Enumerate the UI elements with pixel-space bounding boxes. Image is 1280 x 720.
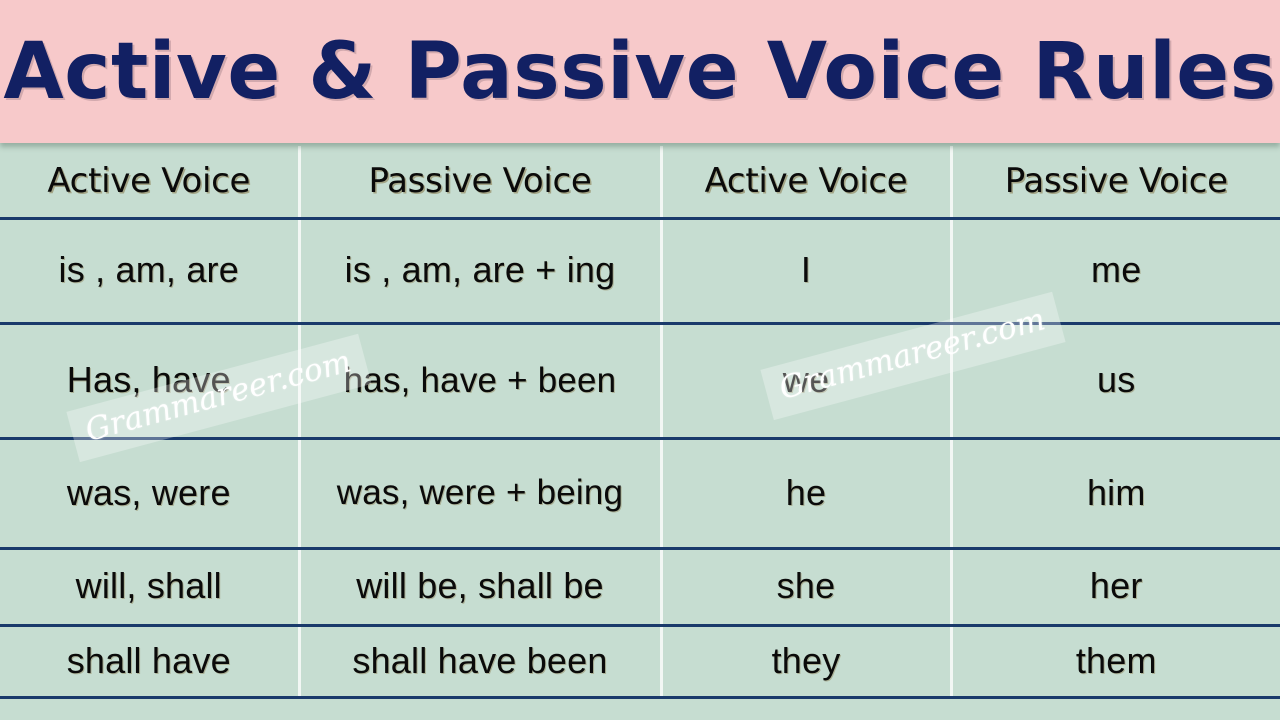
cell-passive-pronoun: me <box>951 218 1280 323</box>
cell-passive-pronoun: them <box>951 625 1280 697</box>
cell-passive-tense: has, have + been <box>299 323 661 438</box>
table-row: was, were was, were + being he him <box>0 438 1280 548</box>
cell-active-tense: shall have <box>0 625 299 697</box>
column-header-passive-voice-2: Passive Voice <box>951 146 1280 218</box>
cell-passive-pronoun: her <box>951 548 1280 625</box>
worksheet-page: Active & Passive Voice Rules Active Voic… <box>0 0 1280 720</box>
cell-passive-tense: shall have been <box>299 625 661 697</box>
cell-passive-tense: was, were + being <box>299 438 661 548</box>
cell-active-pronoun: he <box>661 438 951 548</box>
table-body: is , am, are is , am, are + ing I me Has… <box>0 218 1280 697</box>
cell-active-tense: will, shall <box>0 548 299 625</box>
voice-rules-table: Active Voice Passive Voice Active Voice … <box>0 146 1280 699</box>
table-header: Active Voice Passive Voice Active Voice … <box>0 146 1280 218</box>
cell-active-pronoun: they <box>661 625 951 697</box>
column-header-active-voice-2: Active Voice <box>661 146 951 218</box>
table-row: will, shall will be, shall be she her <box>0 548 1280 625</box>
cell-active-pronoun: she <box>661 548 951 625</box>
cell-active-tense: Has, have <box>0 323 299 438</box>
column-header-active-voice-1: Active Voice <box>0 146 299 218</box>
table-row: is , am, are is , am, are + ing I me <box>0 218 1280 323</box>
cell-passive-pronoun: us <box>951 323 1280 438</box>
cell-active-tense: is , am, are <box>0 218 299 323</box>
page-title: Active & Passive Voice Rules <box>3 33 1276 111</box>
column-header-passive-voice-1: Passive Voice <box>299 146 661 218</box>
table-row: shall have shall have been they them <box>0 625 1280 697</box>
cell-active-pronoun: we <box>661 323 951 438</box>
cell-passive-tense: is , am, are + ing <box>299 218 661 323</box>
cell-active-tense: was, were <box>0 438 299 548</box>
cell-passive-pronoun: him <box>951 438 1280 548</box>
table-header-row: Active Voice Passive Voice Active Voice … <box>0 146 1280 218</box>
title-banner: Active & Passive Voice Rules <box>0 0 1280 143</box>
cell-active-pronoun: I <box>661 218 951 323</box>
cell-passive-tense: will be, shall be <box>299 548 661 625</box>
table-row: Has, have has, have + been we us <box>0 323 1280 438</box>
